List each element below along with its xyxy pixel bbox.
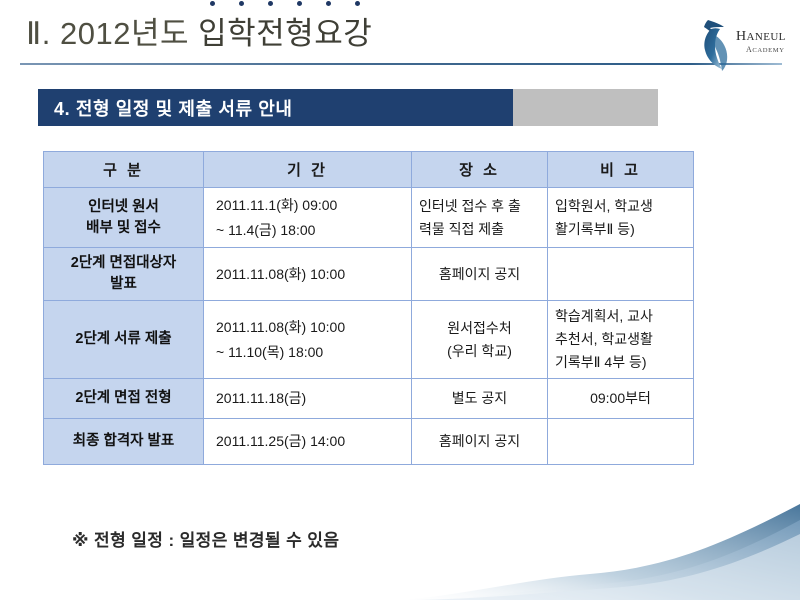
schedule-footnote: ※ 전형 일정 : 일정은 변경될 수 있음 <box>72 526 339 551</box>
table-row: 2단계 서류 제출 2011.11.08(화) 10:00 ~ 11.10(목)… <box>44 301 694 379</box>
cell-period: 2011.11.25(금) 14:00 <box>204 419 412 465</box>
section-heading-label: 4. 전형 일정 및 제출 서류 안내 <box>38 95 293 121</box>
cell-period: 2011.11.18(금) <box>204 379 412 419</box>
logo-bird-icon: HANEUL ACADEMY <box>694 16 794 72</box>
cell-place: 홈페이지 공지 <box>412 248 548 301</box>
cell-note <box>548 419 694 465</box>
cell-note: 학습계획서, 교사 추천서, 학교생활 기록부Ⅱ 4부 등) <box>548 301 694 379</box>
cell-category: 2단계 면접 전형 <box>44 379 204 419</box>
section-heading-gray-accent <box>513 89 658 126</box>
page-title-emphasis-wrap: 입학전형요강 <box>198 14 372 54</box>
table-row: 최종 합격자 발표 2011.11.25(금) 14:00 홈페이지 공지 <box>44 419 694 465</box>
slide-canvas: Ⅱ. 2012년도 입학전형요강 HANEUL ACADEMY 4 <box>0 0 800 600</box>
column-header-period: 기 간 <box>204 152 412 188</box>
cell-note: 입학원서, 학교생 활기록부Ⅱ 등) <box>548 188 694 248</box>
section-heading-navy: 4. 전형 일정 및 제출 서류 안내 <box>38 89 513 126</box>
cell-period: 2011.11.08(화) 10:00 <box>204 248 412 301</box>
cell-place: 원서접수처 (우리 학교) <box>412 301 548 379</box>
emphasis-dots <box>198 1 372 6</box>
decorative-wave <box>400 500 800 600</box>
cell-category: 인터넷 원서 배부 및 접수 <box>44 188 204 248</box>
column-header-place: 장 소 <box>412 152 548 188</box>
cell-category: 2단계 면접대상자 발표 <box>44 248 204 301</box>
cell-period: 2011.11.1(화) 09:00 ~ 11.4(금) 18:00 <box>204 188 412 248</box>
cell-note: 09:00부터 <box>548 379 694 419</box>
table-row: 2단계 면접 전형 2011.11.18(금) 별도 공지 09:00부터 <box>44 379 694 419</box>
page-title-prefix: Ⅱ. 2012년도 <box>26 16 198 51</box>
svg-text:HANEUL: HANEUL <box>736 29 786 44</box>
cell-category: 최종 합격자 발표 <box>44 419 204 465</box>
cell-note <box>548 248 694 301</box>
column-header-note: 비 고 <box>548 152 694 188</box>
table-row: 2단계 면접대상자 발표 2011.11.08(화) 10:00 홈페이지 공지 <box>44 248 694 301</box>
cell-place: 홈페이지 공지 <box>412 419 548 465</box>
admission-schedule-table: 구 분 기 간 장 소 비 고 인터넷 원서 배부 및 접수 2011.11.1… <box>43 151 694 465</box>
header-divider <box>20 63 782 65</box>
page-title-emphasis: 입학전형요강 <box>198 16 372 51</box>
table-header-row: 구 분 기 간 장 소 비 고 <box>44 152 694 188</box>
section-heading-bar: 4. 전형 일정 및 제출 서류 안내 <box>38 89 658 126</box>
svg-text:ACADEMY: ACADEMY <box>746 45 785 54</box>
cell-category: 2단계 서류 제출 <box>44 301 204 379</box>
cell-period: 2011.11.08(화) 10:00 ~ 11.10(목) 18:00 <box>204 301 412 379</box>
haneul-academy-logo: HANEUL ACADEMY <box>694 16 794 72</box>
column-header-category: 구 분 <box>44 152 204 188</box>
cell-place: 인터넷 접수 후 출 력물 직접 제출 <box>412 188 548 248</box>
page-title: Ⅱ. 2012년도 입학전형요강 <box>26 14 372 54</box>
cell-place: 별도 공지 <box>412 379 548 419</box>
table-row: 인터넷 원서 배부 및 접수 2011.11.1(화) 09:00 ~ 11.4… <box>44 188 694 248</box>
